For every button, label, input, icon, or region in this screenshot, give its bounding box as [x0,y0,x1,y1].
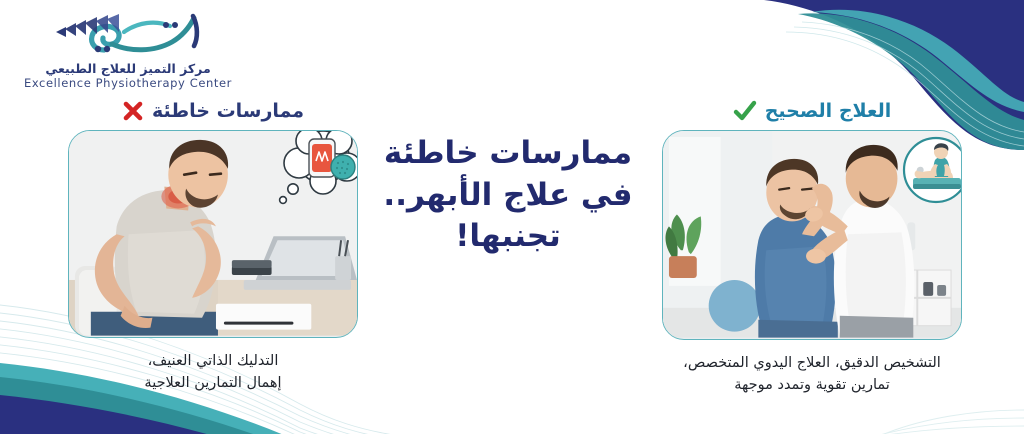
panel-correct-heading-row: العلاج الصحيح [662,96,962,126]
green-check-icon [733,100,757,122]
panel-correct-heading: العلاج الصحيح [765,102,892,121]
headline-line-1: ممارسات خاطئة [372,133,644,175]
panel-wrong-heading-row: ممارسات خاطئة [68,96,358,126]
brand-name-arabic: مركز التميز للعلاج الطبيعي [18,61,238,77]
panel-wrong-caption: التدليك الذاتي العنيف، إهمال التمارين ال… [68,351,358,395]
panel-wrong-caption-line2: إهمال التمارين العلاجية [68,373,358,395]
panel-wrong-practices: ممارسات خاطئة [68,96,358,395]
spine-calligraphy-logo-icon [38,8,218,60]
panel-correct-caption-line1: التشخيص الدقيق، العلاج اليدوي المتخصص، [662,353,962,375]
panel-wrong-heading: ممارسات خاطئة [152,102,304,121]
therapist-massage-table-icon [901,135,962,205]
panel-wrong-photo-frame [68,130,358,338]
brand-logo-block: مركز التميز للعلاج الطبيعي Excellence Ph… [18,8,238,90]
page-title: ممارسات خاطئة في علاج الأبهر.. تجنبها! [372,133,644,258]
headline-line-2: في علاج الأبهر.. [372,175,644,217]
banner-canvas: مركز التميز للعلاج الطبيعي Excellence Ph… [0,0,1024,434]
red-x-icon [122,100,144,122]
brand-name-english: Excellence Physiotherapy Center [18,77,238,91]
thought-bubble-heat-pad-and-massage-ball-icon [273,130,358,209]
panel-correct-photo-frame [662,130,962,340]
panel-correct-caption-line2: تمارين تقوية وتمدد موجهة [662,375,962,397]
panel-correct-treatment: العلاج الصحيح [662,96,962,397]
headline-line-3: تجنبها! [372,216,644,258]
panel-correct-caption: التشخيص الدقيق، العلاج اليدوي المتخصص، ت… [662,353,962,397]
panel-wrong-caption-line1: التدليك الذاتي العنيف، [68,351,358,373]
